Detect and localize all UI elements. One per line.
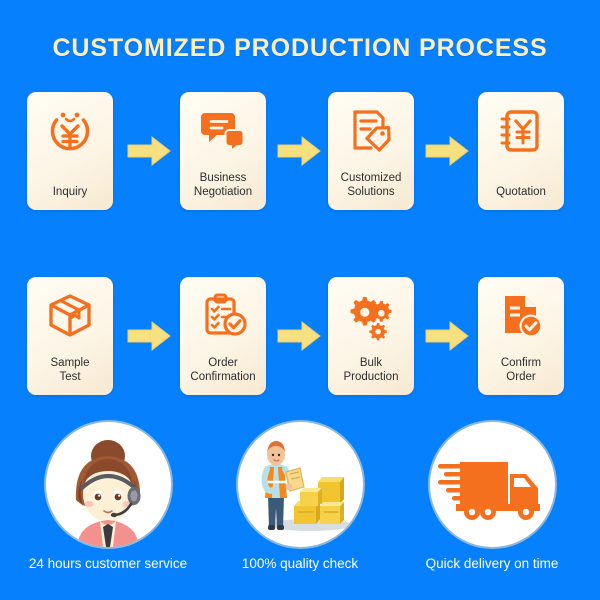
step-card-label-line2: Confirmation <box>190 371 255 383</box>
arrow-order-to-bulk <box>274 319 324 353</box>
quality-inspector-illustration <box>238 422 363 547</box>
step-card-bulk-production[interactable]: Bulk Production <box>328 277 414 395</box>
notebook-yen-icon <box>496 106 546 156</box>
step-card-label: Confirm Order <box>478 356 564 384</box>
step-card-label-line1: Order <box>208 357 237 369</box>
step-card-quotation[interactable]: Quotation <box>478 92 564 210</box>
arrow-solutions-to-quotation <box>422 134 472 168</box>
feature-label: 100% quality check <box>220 556 380 571</box>
step-card-label: Inquiry <box>27 185 113 199</box>
step-card-sample-test[interactable]: Sample Test <box>27 277 113 395</box>
step-card-order-confirmation[interactable]: Order Confirmation <box>180 277 266 395</box>
package-box-icon <box>45 291 95 341</box>
step-card-inquiry[interactable]: Inquiry <box>27 92 113 210</box>
step-card-label-line1: Confirm <box>501 357 541 369</box>
step-card-label-line1: Business <box>200 172 247 184</box>
step-card-label: Bulk Production <box>328 356 414 384</box>
feature-label: Quick delivery on time <box>412 556 572 571</box>
step-card-label-line2: Production <box>344 371 399 383</box>
step-card-label-line1: Sample <box>51 357 90 369</box>
feature-quality-check[interactable]: 100% quality check <box>220 422 380 571</box>
feature-label: 24 hours customer service <box>28 556 188 571</box>
document-tag-icon <box>346 106 396 156</box>
arrow-bulk-to-confirm <box>422 319 472 353</box>
step-card-label: Customized Solutions <box>328 171 414 199</box>
step-card-label-line2: Order <box>506 371 535 383</box>
arrow-negotiation-to-solutions <box>274 134 324 168</box>
step-card-label-line1: Customized <box>341 172 402 184</box>
step-card-business-negotiation[interactable]: Business Negotiation <box>180 92 266 210</box>
gears-icon <box>346 291 396 341</box>
document-check-icon <box>496 291 546 341</box>
step-card-label: Sample Test <box>27 356 113 384</box>
step-card-label: Business Negotiation <box>180 171 266 199</box>
arrow-sample-to-order <box>124 319 174 353</box>
clipboard-check-icon <box>198 291 248 341</box>
step-card-confirm-order[interactable]: Confirm Order <box>478 277 564 395</box>
step-card-label-line2: Negotiation <box>194 186 252 198</box>
step-card-customized-solutions[interactable]: Customized Solutions <box>328 92 414 210</box>
step-card-label-line2: Solutions <box>347 186 394 198</box>
step-card-label: Order Confirmation <box>180 356 266 384</box>
step-card-label-line2: Test <box>59 371 80 383</box>
step-card-label-line1: Bulk <box>360 357 382 369</box>
arrow-inquiry-to-negotiation <box>124 134 174 168</box>
feature-customer-service[interactable]: 24 hours customer service <box>28 422 188 571</box>
feature-quick-delivery[interactable]: Quick delivery on time <box>412 422 572 571</box>
step-card-label: Quotation <box>478 185 564 199</box>
page-title: CUSTOMIZED PRODUCTION PROCESS <box>0 34 600 63</box>
infographic-page: CUSTOMIZED PRODUCTION PROCESS Inquiry <box>0 0 600 600</box>
delivery-truck-icon <box>430 422 555 547</box>
chat-bubbles-icon <box>198 106 248 156</box>
customer-service-agent-illustration <box>46 422 171 547</box>
yen-circle-face-icon <box>45 106 95 156</box>
